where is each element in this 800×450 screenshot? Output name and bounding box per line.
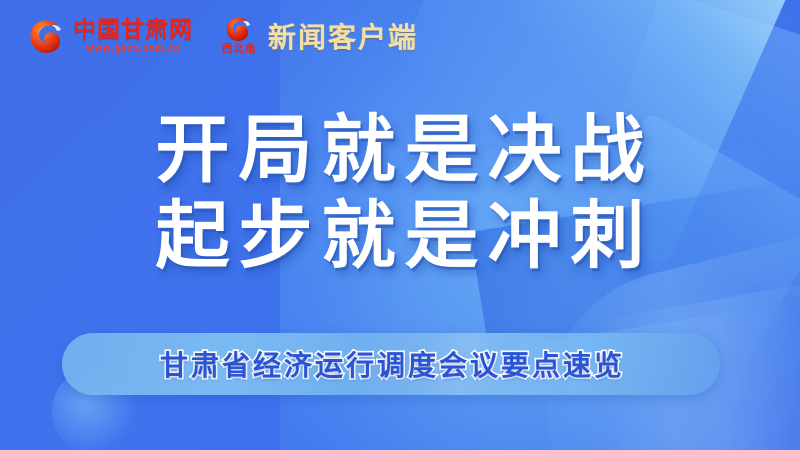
xibeijiao-logo-label: 西北角	[222, 40, 257, 56]
poster-canvas: 中国甘肃网 www.gscn.com.cn 西北角	[0, 0, 800, 450]
subtitle-pill: 甘肃省经济运行调度会议要点速览	[62, 333, 720, 395]
xibeijiao-swirl-logo-icon: 西北角	[217, 14, 261, 58]
brand-gansu-net-name: 中国甘肃网	[73, 19, 193, 42]
brand-gansu-net-text: 中国甘肃网 www.gscn.com.cn	[73, 19, 193, 54]
gansu-net-swirl-logo-icon	[26, 15, 66, 57]
headline-line-1: 开局就是决战	[0, 108, 800, 194]
subtitle-text: 甘肃省经济运行调度会议要点速览	[157, 344, 625, 384]
brand-xibeijiao[interactable]: 西北角 新闻客户端	[217, 14, 418, 58]
brand-gansu-net-url: www.gscn.com.cn	[86, 45, 181, 54]
header-logos: 中国甘肃网 www.gscn.com.cn 西北角	[26, 14, 418, 58]
app-name-label: 新闻客户端	[268, 16, 418, 56]
headline-block: 开局就是决战 起步就是冲刺	[0, 108, 800, 280]
brand-gansu-net[interactable]: 中国甘肃网 www.gscn.com.cn	[26, 15, 193, 57]
headline-line-2: 起步就是冲刺	[0, 194, 800, 280]
